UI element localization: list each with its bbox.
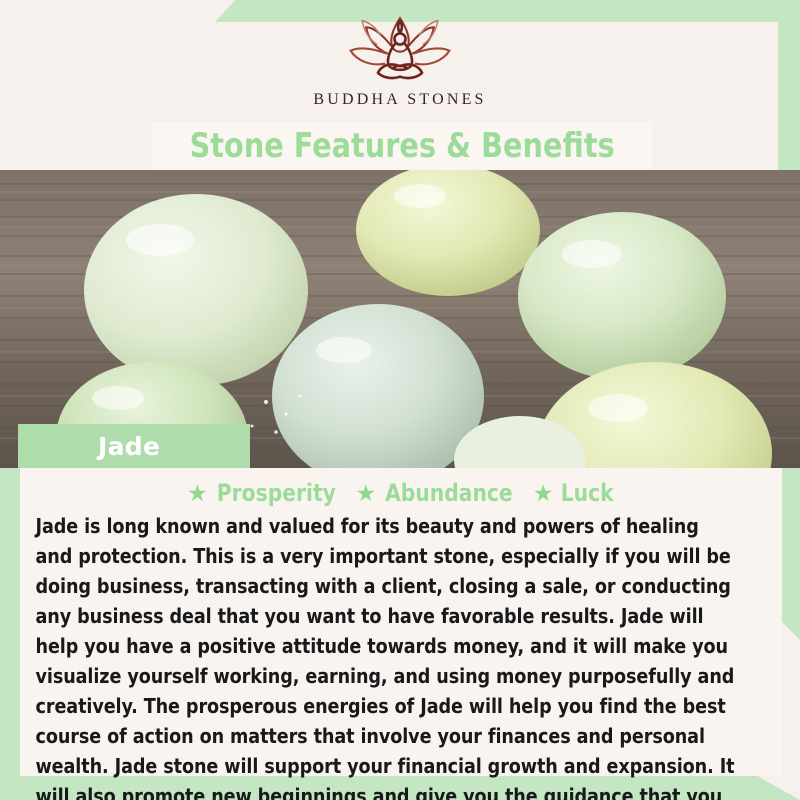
benefits-list: ★ Prosperity ★ Abundance ★ Luck	[22, 478, 780, 508]
page-title: Stone Features & Benefits	[189, 129, 614, 163]
benefit-item: ★ Abundance	[356, 481, 517, 505]
star-icon: ★	[187, 482, 208, 505]
stone-name-bar: Jade	[18, 424, 250, 468]
star-icon: ★	[356, 482, 377, 505]
stone-name: Jade	[98, 432, 160, 461]
brand-name: BUDDHA STONES	[313, 91, 486, 109]
content-panel: ★ Prosperity ★ Abundance ★ Luck Jade is …	[20, 468, 782, 776]
benefit-item: ★ Prosperity	[187, 481, 339, 505]
benefit-label: Abundance	[385, 481, 513, 505]
benefit-item: ★ Luck	[533, 481, 615, 505]
lotus-meditation-icon	[335, 13, 465, 85]
benefit-label: Prosperity	[217, 481, 336, 505]
star-icon: ★	[533, 482, 554, 505]
benefit-label: Luck	[560, 481, 613, 505]
brand-header: BUDDHA STONES	[0, 0, 800, 122]
title-banner: Stone Features & Benefits	[152, 122, 652, 170]
stone-description: Jade is long known and valued for its be…	[22, 511, 753, 800]
poster-root: BUDDHA STONES Stone Features & Benefits	[0, 0, 800, 800]
